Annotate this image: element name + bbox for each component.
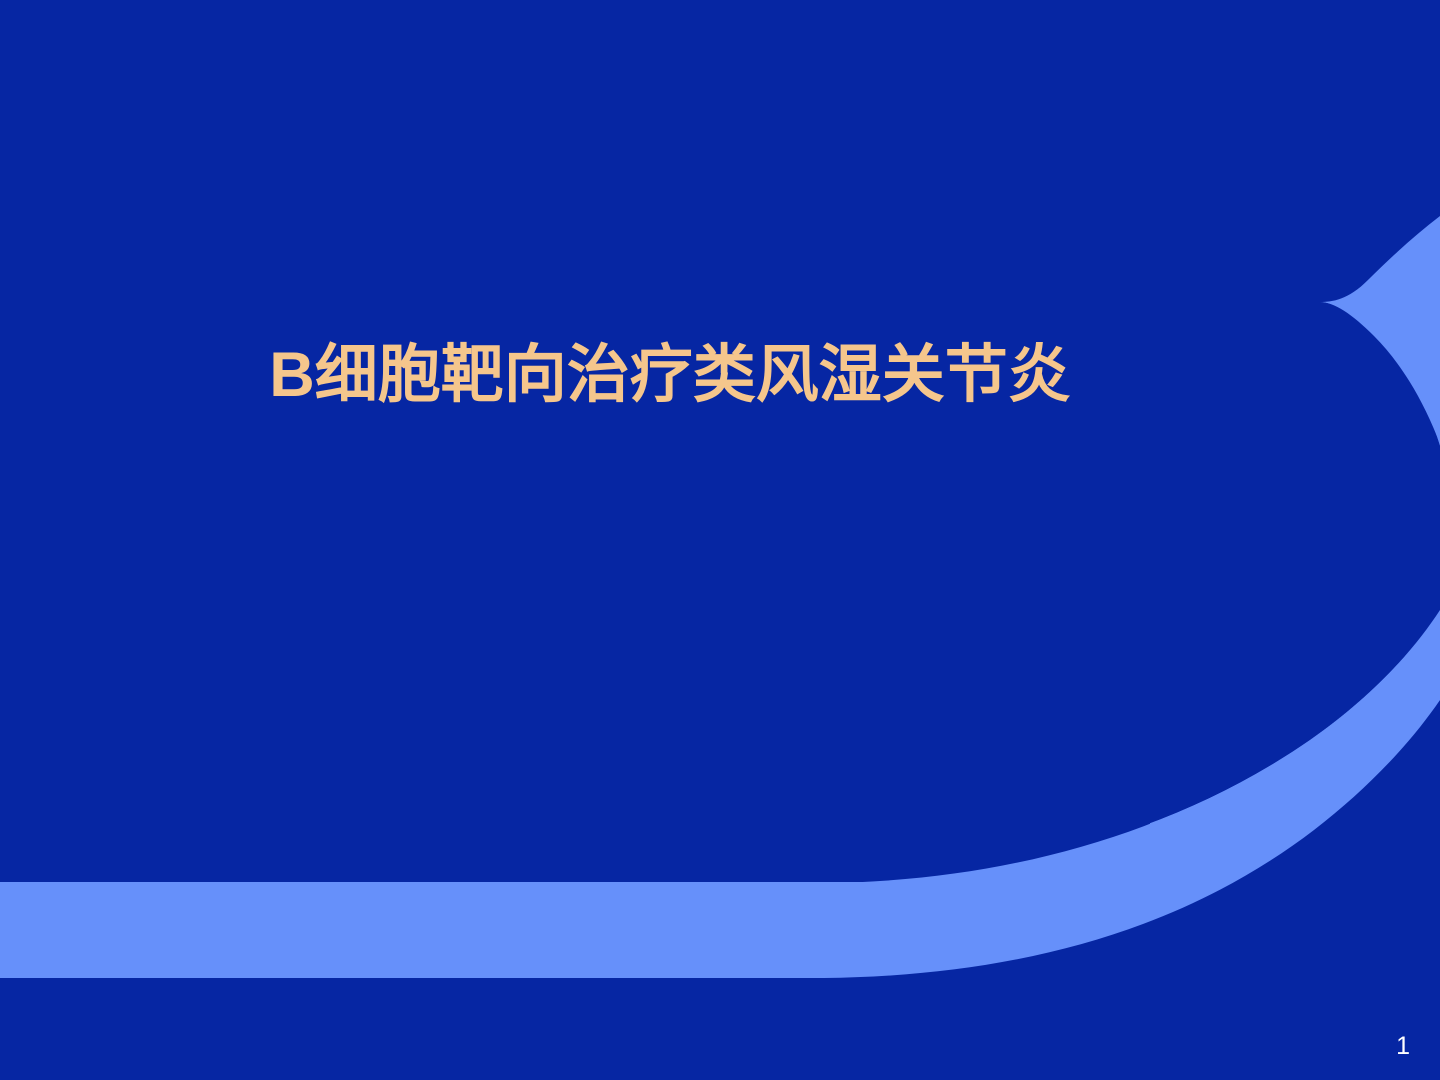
upper-left-dark-field [0,0,1150,882]
page-number: 1 [1396,1034,1410,1059]
slide-title: B细胞靶向治疗类风湿关节炎 [0,342,1340,408]
slide-background-decoration [0,0,1440,1080]
slide-canvas: B细胞靶向治疗类风湿关节炎 1 [0,0,1440,1080]
